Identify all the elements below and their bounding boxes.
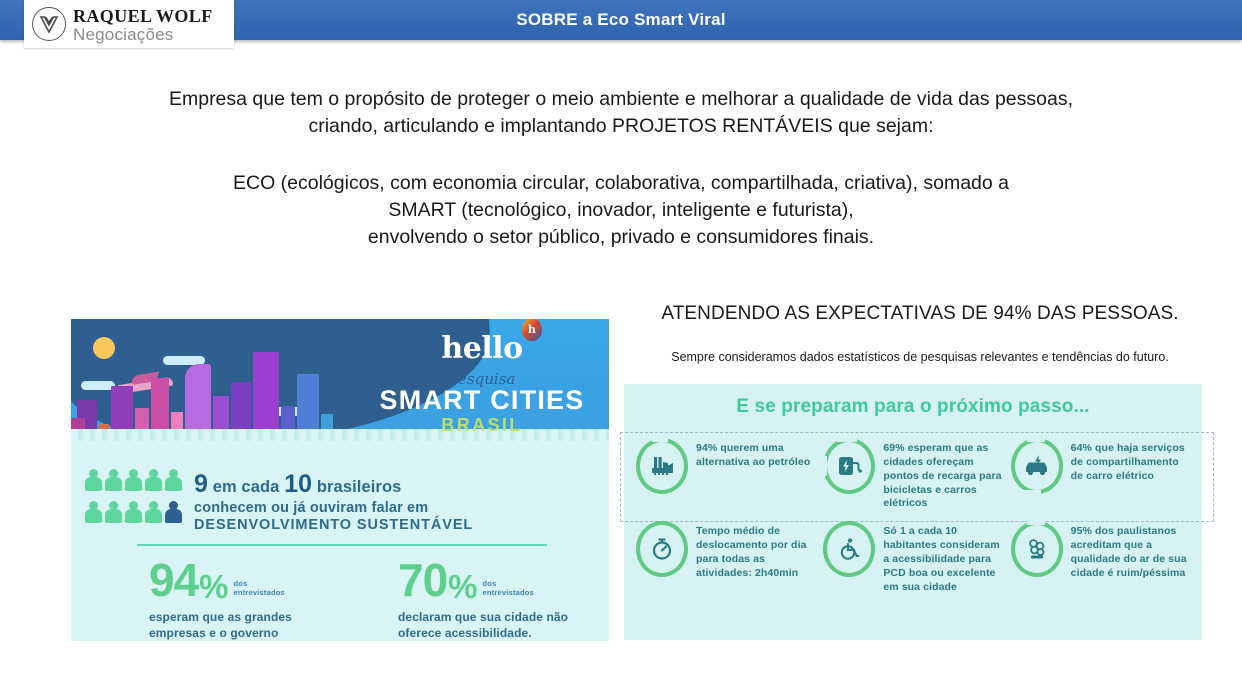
percent-stats: 94 % dosentrevistados esperam que as gra… [87, 559, 597, 641]
person-icon [125, 469, 142, 491]
air-pollution-icon [1011, 521, 1063, 577]
hello-balloon-icon: h [522, 319, 542, 341]
research-title: SMART CITIES [377, 387, 587, 415]
stat-card-text: 94% querem uma alternativa ao petróleo [696, 438, 819, 470]
person-icon [85, 501, 102, 523]
intro-line-2: criando, articulando e implantando PROJE… [0, 113, 1242, 140]
wolf-monogram-icon [32, 7, 66, 41]
percent-description: esperam que as grandes empresas e o gove… [149, 609, 342, 641]
intro-line-5: envolvendo o setor público, privado e co… [0, 224, 1242, 251]
percent-symbol: % [199, 571, 227, 602]
intro-line-4: SMART (tecnológico, inovador, inteligent… [0, 197, 1242, 224]
brand-logo[interactable]: RAQUEL WOLF Negociações [24, 0, 234, 48]
percent-stat-item: 70 % dosentrevistados declaram que sua c… [342, 559, 597, 641]
percent-value-group: 70 % dosentrevistados [398, 559, 597, 603]
percent-value-group: 94 % dosentrevistados [149, 559, 342, 603]
people-pictogram [85, 469, 182, 533]
hello-research-brand: hello h Pesquisa SMART CITIES BRASIL [377, 331, 587, 436]
hello-logo: hello h [441, 331, 522, 366]
slide: SOBRE a Eco Smart Viral RAQUEL WOLF Nego… [0, 0, 1242, 681]
stat-card: 69% esperam que as cidades ofereçam pont… [819, 438, 1006, 511]
stat-card: Tempo médio de deslocamento por dia para… [632, 521, 819, 594]
stat-card: 94% querem uma alternativa ao petróleo [632, 438, 819, 511]
nine-in-ten-stat: 9 em cada 10 brasileiros conhecem ou já … [85, 469, 473, 533]
expectations-subline: Sempre consideramos dados estatísticos d… [620, 350, 1220, 364]
intro-line-1: Empresa que tem o propósito de proteger … [0, 86, 1242, 113]
city-illustration: hello h Pesquisa SMART CITIES BRASIL [71, 319, 609, 452]
stat-card-text: 64% que haja serviços de compartilhament… [1071, 438, 1194, 484]
expectations-headline: ATENDENDO AS EXPECTATIVAS DE 94% DAS PES… [620, 303, 1220, 325]
intro-line-3: ECO (ecológicos, com economia circular, … [0, 170, 1242, 197]
nine-stat-line2: conhecem ou já ouviram falar em [194, 500, 473, 516]
person-icon [105, 501, 122, 523]
stopwatch-icon [636, 521, 688, 577]
person-icon [145, 469, 162, 491]
next-step-infographic: E se preparam para o próximo passo... [624, 384, 1202, 640]
stat-card: Só 1 a cada 10 habitantes consideram a a… [819, 521, 1006, 594]
next-step-title: E se preparam para o próximo passo... [624, 384, 1202, 418]
nine-stat-line3: DESENVOLVIMENTO SUSTENTÁVEL [194, 517, 473, 533]
person-icon [85, 469, 102, 491]
nine-lead-tail: brasileiros [317, 478, 402, 496]
percent-description: declaram que sua cidade não oferece aces… [398, 609, 597, 641]
percent-value: 94 [149, 559, 198, 603]
research-subtitle: BRASIL [377, 415, 587, 436]
logo-name: RAQUEL WOLF [73, 7, 213, 25]
person-icon [125, 501, 142, 523]
person-icon [105, 469, 122, 491]
percent-of-label: dosentrevistados [234, 580, 285, 597]
stat-card: 64% que haja serviços de compartilhament… [1007, 438, 1194, 511]
person-icon-highlighted [165, 501, 182, 523]
stat-card-text: Só 1 a cada 10 habitantes consideram a a… [883, 521, 1006, 594]
stat-card-text: 95% dos paulistanos acreditam que a qual… [1071, 521, 1194, 580]
nine-stat-text: 9 em cada 10 brasileiros conhecem ou já … [194, 469, 473, 533]
electric-car-icon [1011, 438, 1063, 494]
factory-icon [636, 438, 688, 494]
stat-card: 95% dos paulistanos acreditam que a qual… [1007, 521, 1194, 594]
nine-lead-number-2: 10 [284, 470, 312, 498]
person-icon [165, 469, 182, 491]
waterfront [71, 436, 609, 452]
nine-lead-mid: em cada [213, 478, 280, 496]
wheelchair-icon [823, 521, 875, 577]
ev-charger-icon [823, 438, 875, 494]
section-divider [137, 544, 547, 546]
intro-text: Empresa que tem o propósito de proteger … [0, 86, 1242, 251]
stat-card-text: 69% esperam que as cidades ofereçam pont… [883, 438, 1006, 511]
stat-card-grid: 94% querem uma alternativa ao petróleo [624, 438, 1202, 595]
stat-card-text: Tempo médio de deslocamento por dia para… [696, 521, 819, 580]
person-icon [145, 501, 162, 523]
percent-stat-item: 94 % dosentrevistados esperam que as gra… [87, 559, 342, 641]
smart-cities-infographic: hello h Pesquisa SMART CITIES BRASIL [71, 319, 609, 641]
percent-symbol: % [448, 571, 476, 602]
percent-value: 70 [398, 559, 447, 603]
percent-of-label: dosentrevistados [483, 580, 534, 597]
logo-tagline: Negociações [73, 26, 213, 43]
nine-lead-number: 9 [194, 470, 208, 498]
hello-logo-text: hello [441, 331, 522, 366]
